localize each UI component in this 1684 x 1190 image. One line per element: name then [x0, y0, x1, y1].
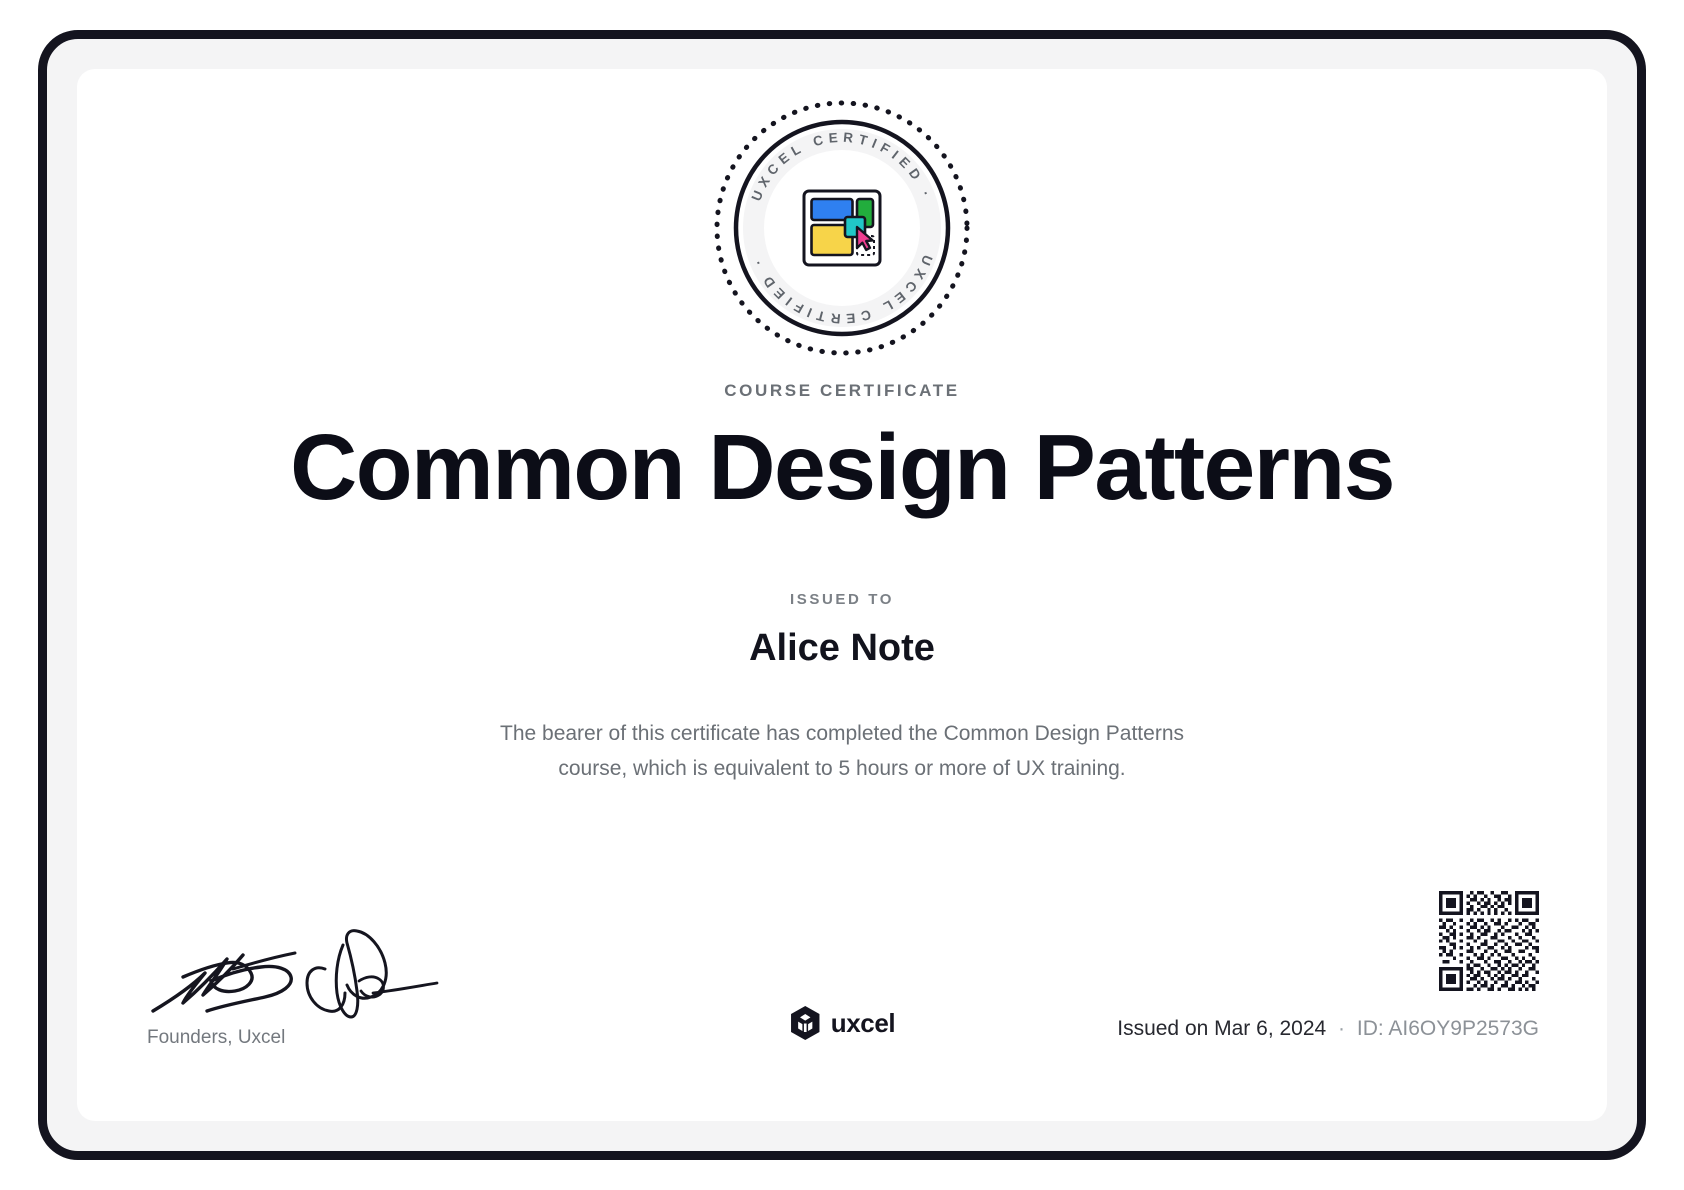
- uxcel-brand: uxcel: [789, 1005, 896, 1041]
- issued-to-label: ISSUED TO: [77, 591, 1607, 608]
- meta-separator: ·: [1332, 1017, 1351, 1040]
- seal-svg: UXCEL CERTIFIED · UXCEL CERTIFIED ·: [711, 97, 973, 359]
- design-patterns-icon: [804, 191, 880, 265]
- certificate-id: ID: AI6OY9P2573G: [1357, 1017, 1539, 1040]
- uxcel-hexagon-icon: [789, 1005, 822, 1041]
- page-title: Common Design Patterns: [77, 419, 1607, 517]
- description-line-1: The bearer of this certificate has compl…: [500, 722, 1184, 745]
- recipient-name: Alice Note: [77, 627, 1607, 670]
- certificate-card: UXCEL CERTIFIED · UXCEL CERTIFIED ·: [77, 69, 1607, 1121]
- signature-block: Founders, Uxcel: [147, 925, 477, 1049]
- qr-code-icon[interactable]: [1439, 891, 1539, 991]
- founders-signature-icon: [147, 925, 447, 1021]
- uxcel-certified-seal: UXCEL CERTIFIED · UXCEL CERTIFIED ·: [711, 97, 973, 359]
- founders-label: Founders, Uxcel: [147, 1027, 477, 1049]
- uxcel-wordmark: uxcel: [831, 1008, 896, 1039]
- issued-on-date: Issued on Mar 6, 2024: [1117, 1017, 1326, 1040]
- certificate-meta: Issued on Mar 6, 2024 · ID: AI6OY9P2573G: [1117, 1017, 1539, 1041]
- certificate-description: The bearer of this certificate has compl…: [452, 717, 1232, 786]
- certificate-qr-code[interactable]: [1439, 891, 1539, 991]
- certificate-frame: UXCEL CERTIFIED · UXCEL CERTIFIED ·: [38, 30, 1646, 1160]
- eyebrow-label: COURSE CERTIFICATE: [77, 381, 1607, 401]
- description-line-2: course, which is equivalent to 5 hours o…: [558, 757, 1125, 780]
